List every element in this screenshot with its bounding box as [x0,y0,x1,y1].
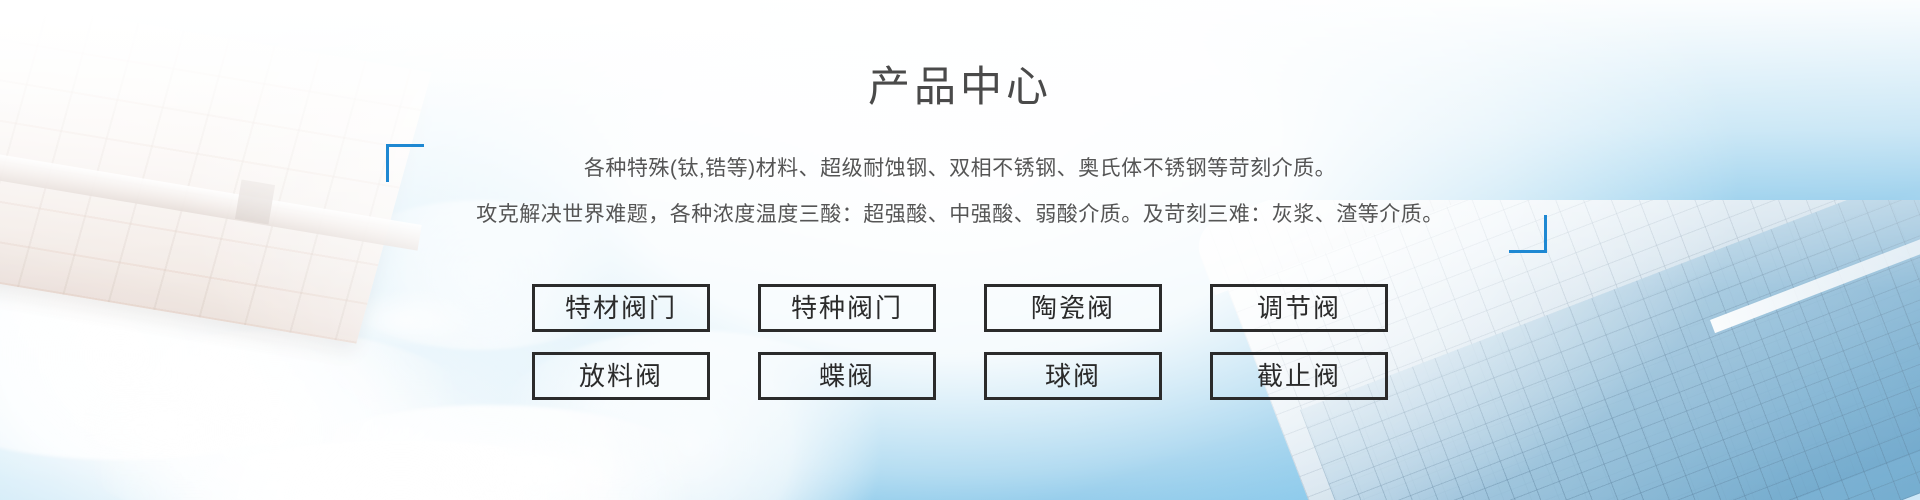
description-block: 各种特殊(钛,锆等)材料、超级耐蚀钢、双相不锈钢、奥氏体不锈钢等苛刻介质。 攻克… [0,146,1920,238]
description-line-1: 各种特殊(钛,锆等)材料、超级耐蚀钢、双相不锈钢、奥氏体不锈钢等苛刻介质。 [0,146,1920,192]
category-button-control-valve[interactable]: 调节阀 [1210,284,1388,332]
corner-bracket-top-left-icon [386,144,424,182]
category-button-grid: 特材阀门 特种阀门 陶瓷阀 调节阀 放料阀 蝶阀 球阀 截止阀 [490,284,1430,400]
category-button-special-type-valve[interactable]: 特种阀门 [758,284,936,332]
page-title: 产品中心 [0,60,1920,114]
category-button-globe-valve[interactable]: 截止阀 [1210,352,1388,400]
description-line-2: 攻克解决世界难题，各种浓度温度三酸：超强酸、中强酸、弱酸介质。及苛刻三难：灰浆、… [0,192,1920,238]
category-button-discharge-valve[interactable]: 放料阀 [532,352,710,400]
category-button-ceramic-valve[interactable]: 陶瓷阀 [984,284,1162,332]
category-button-special-material-valve[interactable]: 特材阀门 [532,284,710,332]
corner-bracket-bottom-right-icon [1509,215,1547,253]
product-center-banner: 产品中心 各种特殊(钛,锆等)材料、超级耐蚀钢、双相不锈钢、奥氏体不锈钢等苛刻介… [0,0,1920,500]
category-button-ball-valve[interactable]: 球阀 [984,352,1162,400]
category-button-butterfly-valve[interactable]: 蝶阀 [758,352,936,400]
